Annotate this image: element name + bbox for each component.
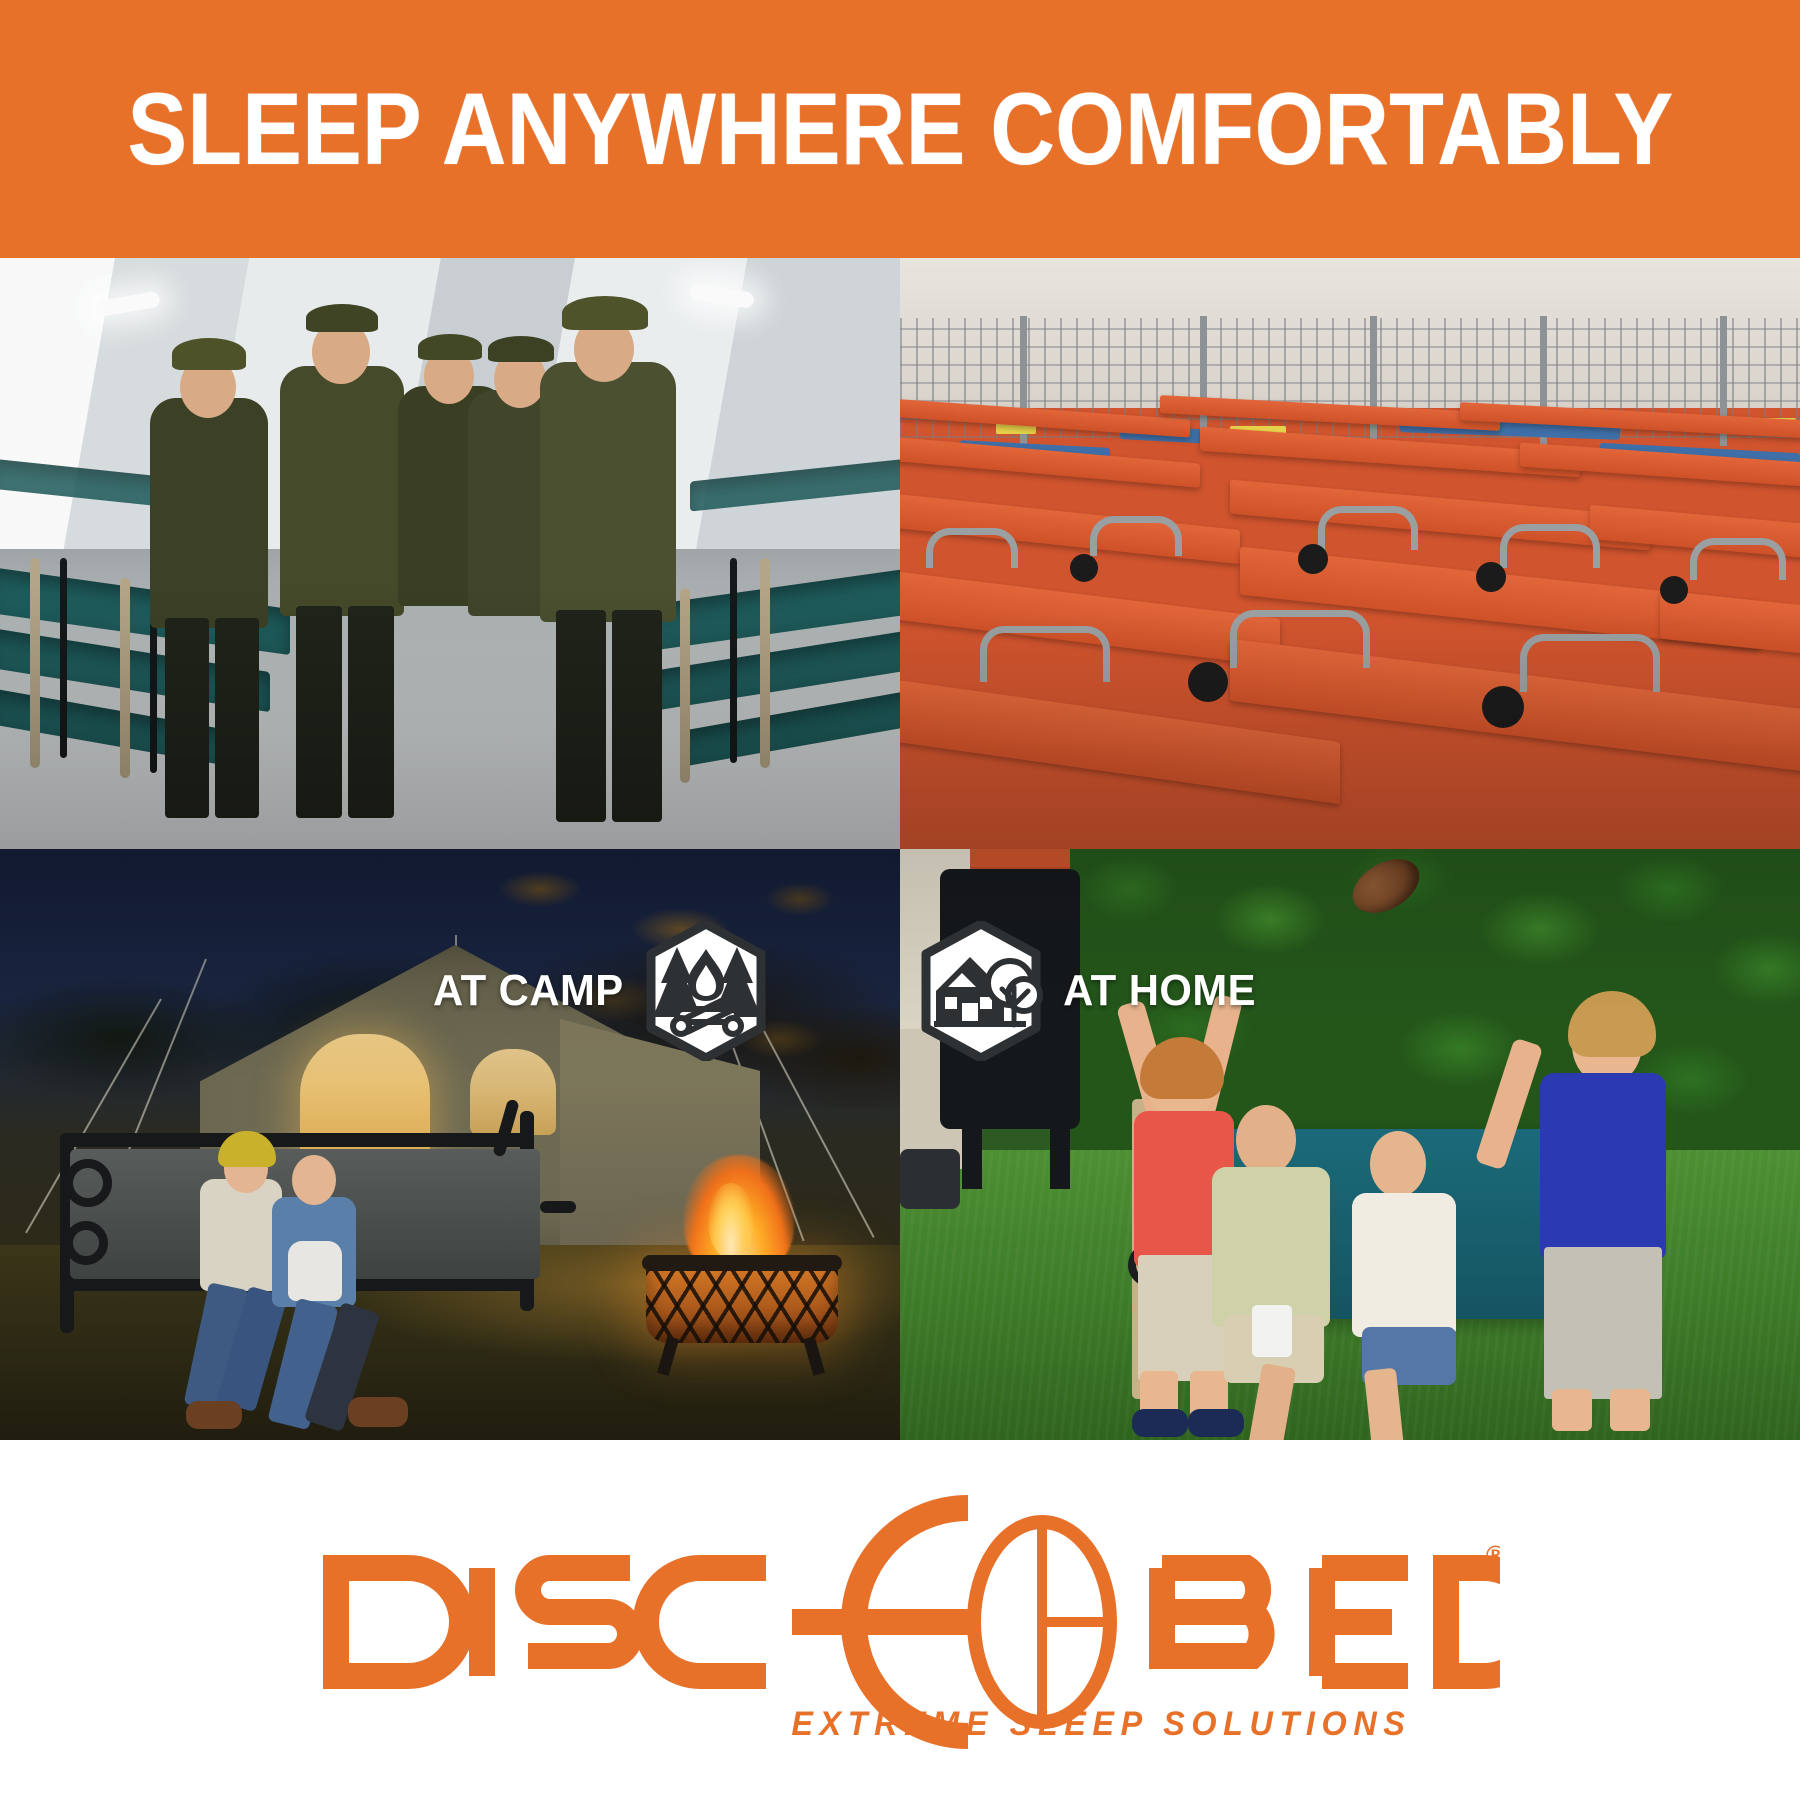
registered-trademark-mark: ® <box>1486 1540 1500 1570</box>
header-banner: SLEEP ANYWHERE COMFORTABLY <box>0 0 1800 258</box>
promo-poster: SLEEP ANYWHERE COMFORTABLY <box>0 0 1800 1800</box>
emergency-scene-photo <box>900 258 1800 849</box>
campfire-trees-icon <box>643 921 769 1061</box>
badge-label-home: AT HOME <box>1063 966 1256 1016</box>
panel-at-home[interactable]: AT HOME <box>900 849 1800 1440</box>
badge-at-home[interactable]: AT HOME <box>918 921 1261 1061</box>
logo-tagline: EXTREME SLEEP SOLUTIONS <box>792 1705 1412 1744</box>
military-scene-photo <box>0 258 900 849</box>
page-title: SLEEP ANYWHERE COMFORTABLY <box>127 78 1673 180</box>
footer-logo-area: ® EXTREME SLEEP SOLUTIONS <box>0 1440 1800 1800</box>
panel-emergency-ready[interactable]: EMERGENCY READY <box>900 258 1800 849</box>
feature-panel-grid: MILITARY APPROVED <box>0 258 1800 1440</box>
badge-at-camp[interactable]: AT CAMP <box>428 921 769 1061</box>
panel-at-camp[interactable]: AT CAMP <box>0 849 900 1440</box>
panel-military-approved[interactable]: MILITARY APPROVED <box>0 258 900 849</box>
house-tree-icon <box>918 921 1044 1061</box>
badge-label-camp: AT CAMP <box>433 966 624 1016</box>
discobed-logo[interactable]: ® EXTREME SLEEP SOLUTIONS <box>300 1490 1500 1750</box>
